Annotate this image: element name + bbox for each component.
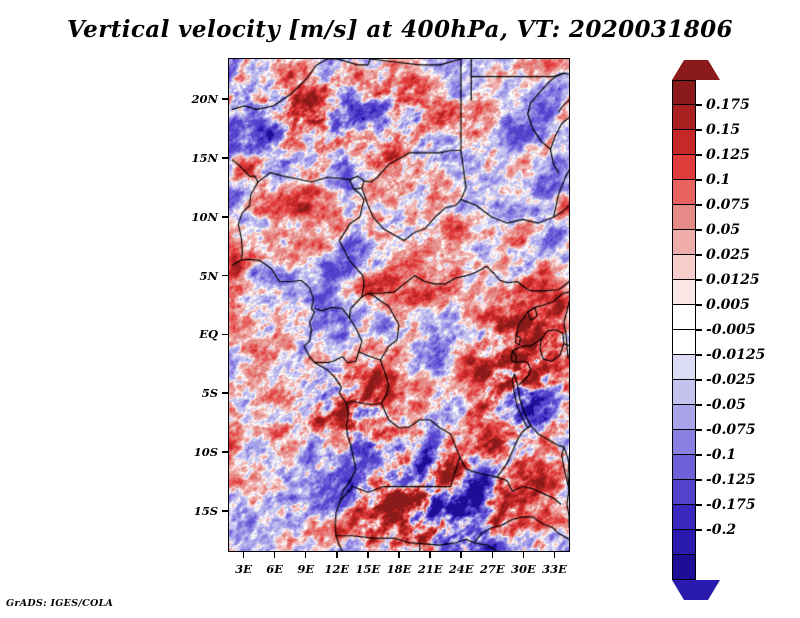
colorbar-arrow-top-icon: [672, 60, 720, 80]
x-axis-label: 3E: [235, 562, 252, 576]
colorbar-tick: [696, 504, 702, 505]
y-axis-label: 20N: [166, 92, 218, 106]
colorbar-tick-label: -0.1: [706, 447, 736, 463]
colorbar-tick-label: -0.125: [706, 472, 756, 488]
x-axis-tick: [492, 552, 494, 558]
y-axis-label: EQ: [166, 327, 218, 341]
colorbar-band: [673, 205, 695, 230]
x-axis-label: 27E: [480, 562, 505, 576]
colorbar-band: [673, 430, 695, 455]
x-axis-tick: [274, 552, 276, 558]
colorbar-tick: [696, 129, 702, 130]
colorbar-band: [673, 280, 695, 305]
colorbar-tick-label: 0.0125: [706, 272, 760, 288]
x-axis-tick: [336, 552, 338, 558]
x-axis-label: 33E: [542, 562, 567, 576]
x-axis-tick: [243, 552, 245, 558]
y-axis-label: 5N: [166, 269, 218, 283]
colorbar-band: [673, 330, 695, 355]
colorbar-band: [673, 180, 695, 205]
colorbar-tick-label: 0.075: [706, 197, 750, 213]
x-axis-tick: [523, 552, 525, 558]
colorbar-band: [673, 305, 695, 330]
y-axis-label: 15S: [166, 504, 218, 518]
y-axis-label: 10N: [166, 210, 218, 224]
colorbar-tick: [696, 179, 702, 180]
colorbar-band: [673, 255, 695, 280]
colorbar-tick: [696, 204, 702, 205]
colorbar-tick: [696, 254, 702, 255]
colorbar-tick-label: -0.075: [706, 422, 756, 438]
colorbar-tick: [696, 529, 702, 530]
x-axis-label: 15E: [356, 562, 381, 576]
x-axis-tick: [305, 552, 307, 558]
colorbar-tick-label: -0.05: [706, 397, 746, 413]
x-axis-tick: [460, 552, 462, 558]
map-plot-area: [228, 58, 570, 552]
page-title: Vertical velocity [m/s] at 400hPa, VT: 2…: [0, 16, 800, 43]
colorbar-tick: [696, 104, 702, 105]
colorbar-band: [673, 155, 695, 180]
x-axis-label: 12E: [324, 562, 349, 576]
colorbar-band: [673, 80, 695, 105]
x-axis-tick: [367, 552, 369, 558]
x-axis-label: 18E: [387, 562, 412, 576]
colorbar-tick-label: 0.175: [706, 97, 750, 113]
colorbar-band: [673, 505, 695, 530]
footer-credit: GrADS: IGES/COLA: [6, 598, 113, 609]
colorbar-band: [673, 105, 695, 130]
x-axis-tick: [398, 552, 400, 558]
colorbar-tick-label: 0.05: [706, 222, 740, 238]
colorbar-band: [673, 555, 695, 580]
colorbar-tick-label: 0.1: [706, 172, 730, 188]
colorbar-band: [673, 530, 695, 555]
colorbar-tick: [696, 479, 702, 480]
colorbar-tick-label: 0.125: [706, 147, 750, 163]
colorbar-tick-label: -0.025: [706, 372, 756, 388]
colorbar-tick: [696, 379, 702, 380]
x-axis-label: 24E: [449, 562, 474, 576]
colorbar-band: [673, 380, 695, 405]
x-axis-label: 21E: [418, 562, 443, 576]
x-axis-tick: [429, 552, 431, 558]
colorbar-tick-label: 0.005: [706, 297, 750, 313]
colorbar-tick: [696, 229, 702, 230]
colorbar-tick-label: 0.025: [706, 247, 750, 263]
colorbar-tick: [696, 429, 702, 430]
x-axis-label: 9E: [297, 562, 314, 576]
colorbar-tick-label: 0.15: [706, 122, 740, 138]
y-axis-label: 5S: [166, 386, 218, 400]
colorbar-band: [673, 230, 695, 255]
colorbar-band: [673, 405, 695, 430]
colorbar-arrow-bottom-icon: [672, 580, 720, 600]
colorbar-tick-label: -0.005: [706, 322, 756, 338]
y-axis-label: 15N: [166, 151, 218, 165]
y-axis-label: 10S: [166, 445, 218, 459]
colorbar-tick: [696, 454, 702, 455]
colorbar-tick-label: -0.2: [706, 522, 736, 538]
x-axis-label: 6E: [266, 562, 283, 576]
x-axis-tick: [554, 552, 556, 558]
colorbar-tick: [696, 404, 702, 405]
colorbar-tick: [696, 304, 702, 305]
colorbar-tick: [696, 154, 702, 155]
colorbar-band: [673, 480, 695, 505]
colorbar-tick: [696, 354, 702, 355]
x-axis-label: 30E: [511, 562, 536, 576]
vertical-velocity-heatmap: [229, 59, 569, 551]
colorbar-tick-label: -0.175: [706, 497, 756, 513]
colorbar-band: [673, 455, 695, 480]
colorbar-tick-label: -0.0125: [706, 347, 765, 363]
colorbar-bands: [672, 80, 696, 580]
colorbar-band: [673, 130, 695, 155]
colorbar-tick: [696, 329, 702, 330]
colorbar-tick: [696, 279, 702, 280]
colorbar-band: [673, 355, 695, 380]
grads-plot-page: Vertical velocity [m/s] at 400hPa, VT: 2…: [0, 0, 800, 618]
